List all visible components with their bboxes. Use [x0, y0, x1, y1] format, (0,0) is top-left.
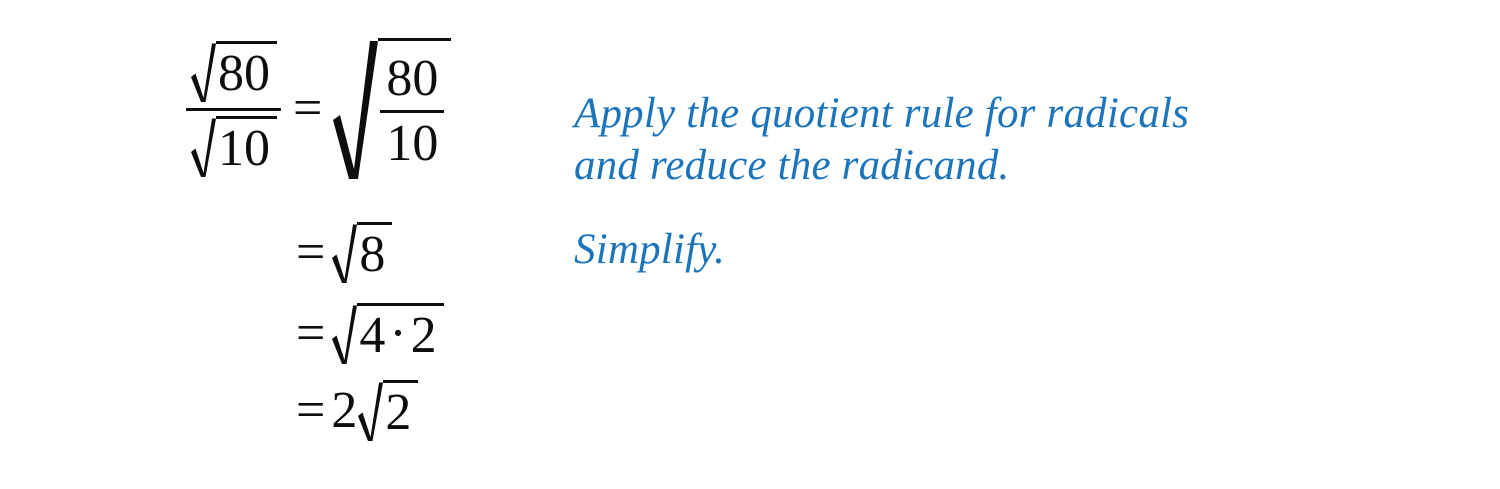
- radical-hook-icon: [190, 116, 216, 178]
- radicand-8: 8: [357, 222, 392, 284]
- radicand-fraction: 80 10: [378, 38, 451, 180]
- radical-sqrt-fraction-80-over-10: 80 10: [332, 38, 451, 180]
- radical-sqrt-8: 8: [331, 222, 392, 284]
- radical-sqrt-2: 2: [357, 380, 418, 442]
- coefficient-2: 2: [331, 385, 357, 437]
- radicand-4-dot-2: 4 · 2: [357, 303, 443, 365]
- inner-denominator-10: 10: [380, 118, 444, 170]
- fraction-sqrt80-over-sqrt10: 80 10: [186, 41, 281, 178]
- inner-numerator-80: 80: [380, 53, 444, 105]
- equation-line-1: 80 10 = 80: [186, 38, 451, 180]
- fraction-denominator: 10: [186, 114, 281, 178]
- factor-4: 4: [359, 310, 385, 362]
- annotation-simplify: Simplify.: [574, 224, 725, 276]
- fraction-numerator: 80: [186, 41, 281, 105]
- radical-sqrt-4-times-2: 4 · 2: [331, 303, 443, 365]
- radical-sqrt-10: 10: [190, 116, 277, 178]
- equation-line-3: = 4 · 2: [296, 303, 444, 365]
- annotation-quotient-rule: Apply the quotient rule for radicals and…: [574, 88, 1189, 192]
- radical-hook-icon: [331, 303, 357, 365]
- equals-sign: =: [296, 385, 325, 437]
- equals-sign: =: [293, 83, 322, 135]
- radical-sqrt-80: 80: [190, 41, 277, 103]
- radicand-2: 2: [383, 380, 418, 442]
- math-derivation-canvas: 80 10 = 80: [0, 0, 1500, 489]
- equals-sign: =: [296, 308, 325, 360]
- equals-sign: =: [296, 227, 325, 279]
- inner-fraction-bar: [380, 110, 444, 113]
- radical-hook-icon: [331, 222, 357, 284]
- fraction-bar: [186, 108, 281, 111]
- equation-line-2: = 8: [296, 222, 392, 284]
- radical-hook-icon: [332, 38, 378, 180]
- radical-hook-icon: [357, 380, 383, 442]
- multiplication-dot: ·: [385, 308, 410, 360]
- radicand-80: 80: [216, 41, 277, 103]
- equation-line-4: = 2 2: [296, 380, 418, 442]
- radicand-10: 10: [216, 116, 277, 178]
- radical-hook-icon: [190, 41, 216, 103]
- fraction-80-over-10: 80 10: [380, 53, 444, 170]
- factor-2: 2: [411, 310, 437, 362]
